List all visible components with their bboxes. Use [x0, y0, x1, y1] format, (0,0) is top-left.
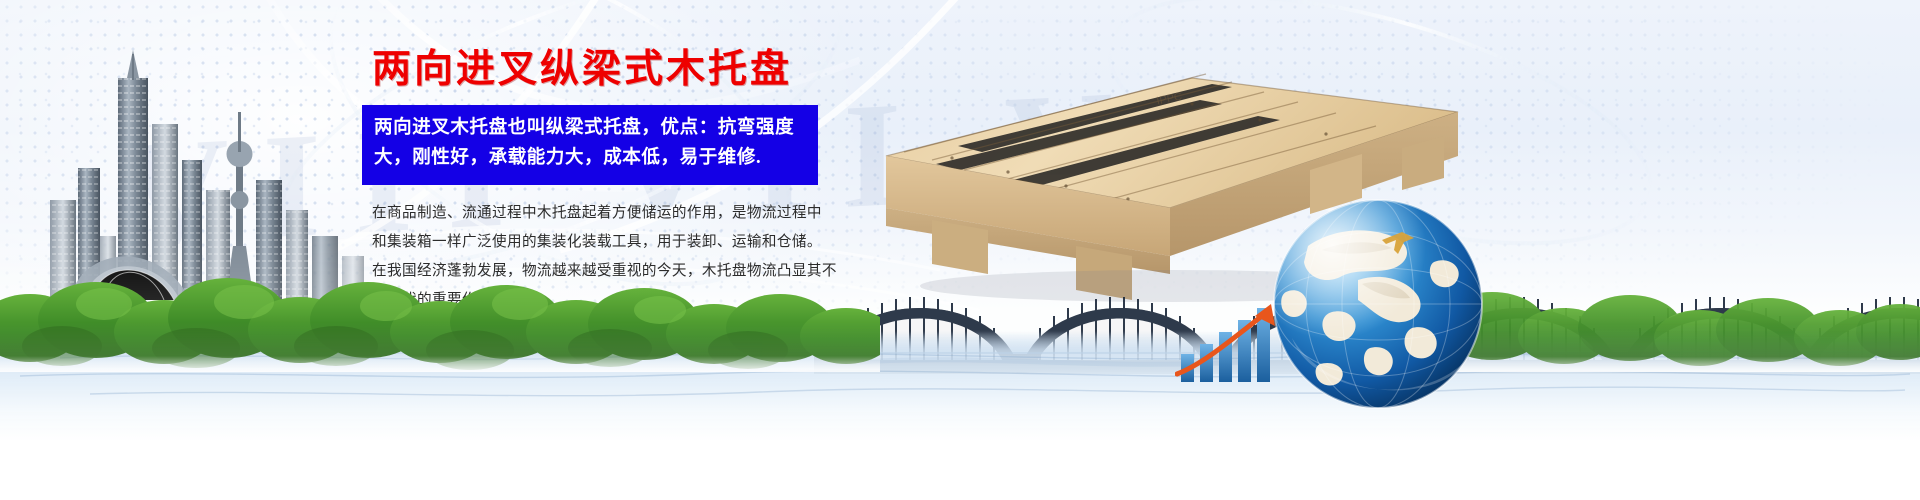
earth-globe-graphic	[1262, 188, 1494, 420]
product-banner: VIII VII VI	[0, 0, 1920, 500]
highlight-line-1: 两向进叉木托盘也叫纵梁式托盘，优点：抗弯强度	[374, 114, 806, 144]
page-title: 两向进叉纵梁式木托盘	[372, 48, 862, 93]
paragraph-line-1: 在商品制造、流通过程中木托盘起着方便储运的作用，是物流过程中	[372, 199, 842, 228]
paragraph-line-2: 和集装箱一样广泛使用的集装化装载工具，用于装卸、运输和仓储。	[372, 228, 842, 257]
green-foliage-left	[0, 262, 880, 372]
bottom-white-band	[0, 440, 1920, 500]
highlight-line-2: 大，刚性好，承载能力大，成本低，易于维修.	[374, 144, 806, 174]
highlight-box: 两向进叉木托盘也叫纵梁式托盘，优点：抗弯强度 大，刚性好，承载能力大，成本低，易…	[362, 105, 818, 185]
